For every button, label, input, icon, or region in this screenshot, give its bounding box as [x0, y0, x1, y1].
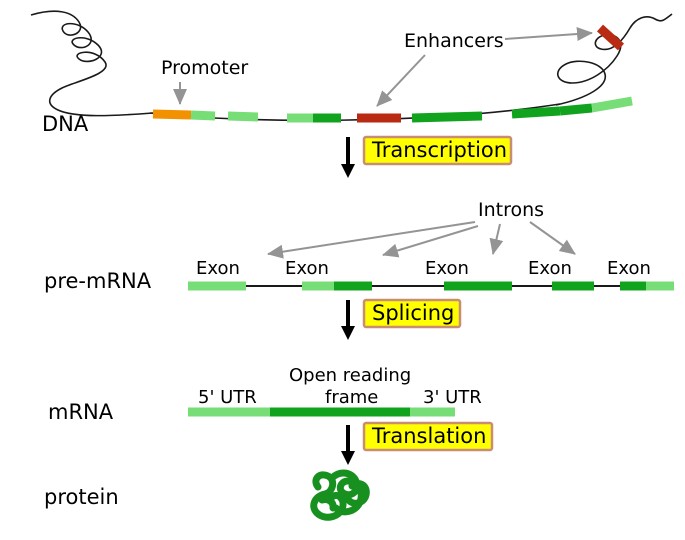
- dna-strand-right-squiggle: [556, 14, 672, 105]
- dna-segment-exon-1: [191, 115, 215, 116]
- step-transcription[interactable]: Transcription: [341, 137, 511, 178]
- step-splicing[interactable]: Splicing: [341, 300, 460, 340]
- pre-mrna-row: pre-mRNA Exon Exon Exon Exon Exon Intron…: [44, 199, 674, 293]
- dna-segment-promoter: [153, 114, 191, 115]
- introns-leader-arrow-2: [383, 226, 478, 255]
- step-label-transcription: Transcription: [371, 138, 507, 162]
- dna-segment-exon-8: [592, 101, 632, 108]
- step-label-translation: Translation: [371, 424, 486, 448]
- exon-label-4: Exon: [528, 258, 572, 279]
- dna-segment-exon-2: [228, 116, 258, 117]
- introns-leader-arrow-4: [530, 222, 575, 254]
- transcription-arrow-head: [341, 164, 355, 178]
- translation-arrow-head: [341, 451, 355, 465]
- enhancers-leader-arrow-right: [505, 33, 592, 39]
- annotation-enhancers-label: Enhancers: [404, 30, 504, 52]
- row-label-protein: protein: [44, 485, 119, 509]
- exon-label-3: Exon: [425, 258, 469, 279]
- protein-folded-shape: [314, 473, 367, 517]
- introns-leader-arrow-3: [493, 224, 500, 254]
- row-label-mrna: mRNA: [48, 400, 114, 424]
- enhancers-leader-arrow-left: [377, 55, 425, 106]
- step-translation[interactable]: Translation: [341, 423, 492, 465]
- dna-strand-left-squiggle: [31, 11, 153, 115]
- annotation-promoter-label: Promoter: [161, 57, 248, 79]
- protein-row: protein: [44, 473, 366, 517]
- exon-label-5: Exon: [607, 258, 651, 279]
- exon-label-2: Exon: [285, 258, 329, 279]
- mrna-label-orf-line2: frame: [325, 387, 378, 408]
- dna-segment-exon-6: [512, 111, 560, 114]
- introns-leader-arrow-1: [268, 222, 475, 254]
- exon-label-1: Exon: [196, 258, 240, 279]
- gene-expression-diagram: DNA Promoter Enhancers: [0, 0, 685, 540]
- mrna-label-five-utr: 5' UTR: [198, 387, 257, 408]
- splicing-arrow-head: [341, 326, 355, 340]
- mrna-row: mRNA 5' UTR Open reading frame 3' UTR: [48, 365, 482, 424]
- dna-segment-exon-5: [412, 116, 482, 118]
- dna-row: DNA Promoter Enhancers: [31, 11, 672, 136]
- dna-segment-exon-7: [560, 108, 592, 111]
- annotation-introns-label: Introns: [478, 199, 544, 221]
- row-label-pre-mrna: pre-mRNA: [44, 269, 152, 293]
- mrna-label-orf-line1: Open reading: [289, 365, 411, 386]
- step-label-splicing: Splicing: [372, 301, 454, 325]
- mrna-label-three-utr: 3' UTR: [423, 387, 482, 408]
